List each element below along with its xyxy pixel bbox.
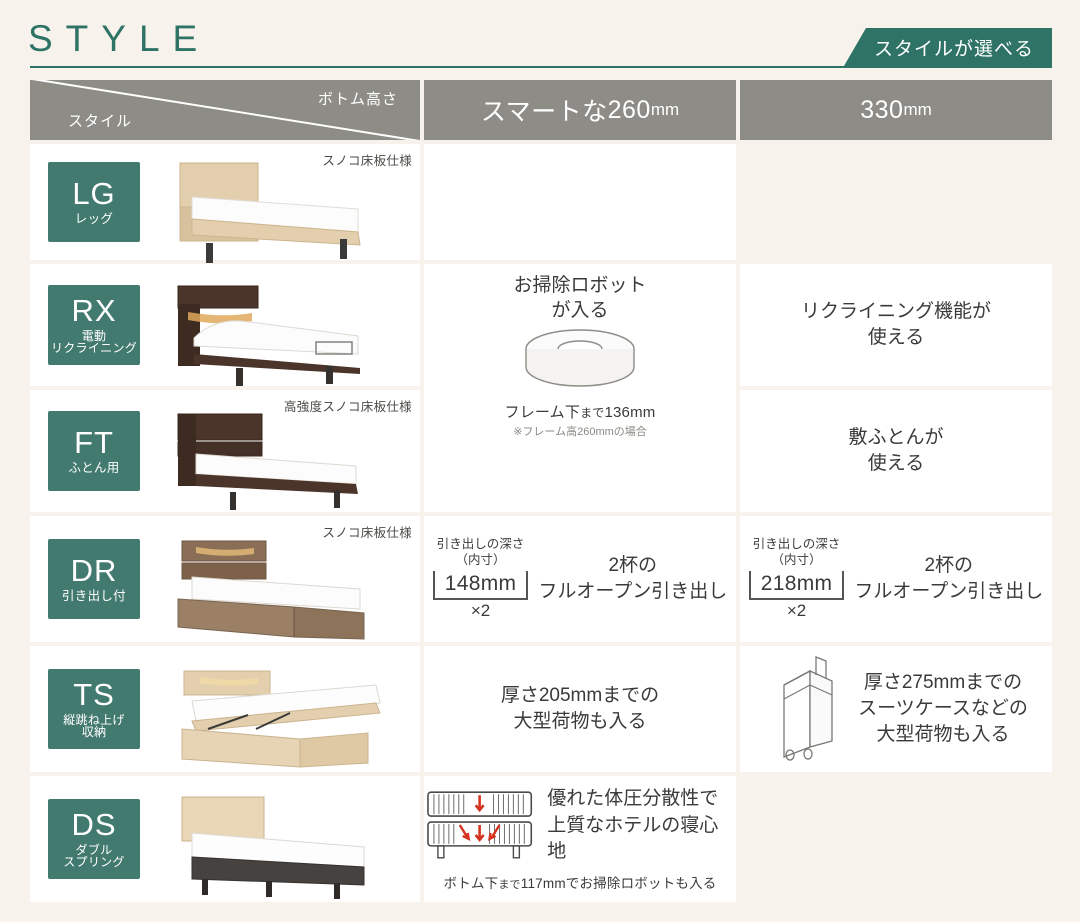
content-cell-robot-260: お掃除ロボット が入る フレーム下まで136mm ※フレーム高260mmの場合 [424,264,736,512]
drawer-depth-label-260: 引き出しの深さ （内寸） [437,537,525,568]
robot-note-prefix: フレーム下 [505,404,581,421]
content-cell-dr-330: 引き出しの深さ （内寸） 218mm ×2 2杯の フルオープン引き出し [740,516,1052,642]
bed-image-wrap-lg: スノコ床板仕様 [140,144,420,260]
drawer-depth-260: 引き出しの深さ （内寸） 148mm ×2 [433,537,529,621]
ft-330-text: 敷ふとんが 使える [740,390,1052,512]
page-title: STYLE [28,20,210,57]
comparison-table: スタイル ボトム高さ スマートな260mm 330mm LG レッグ スノコ床板 [30,80,1052,906]
style-code-ts: TS [73,679,115,712]
style-sub-ft: ふとん用 [68,462,119,475]
style-sub-ts: 縦跳ね上げ 収納 [63,714,125,739]
style-sub-dr: 引き出し付 [62,590,126,603]
drawer-depth-value-330: 218mm [749,571,845,600]
style-code-ft: FT [74,427,114,460]
style-sub-rx: 電動 リクライニング [51,330,137,355]
style-cell-lg: LG レッグ スノコ床板仕様 [30,144,420,260]
bed-image-wrap-ft: 高強度スノコ床板仕様 [140,390,420,512]
double-spring-icon [424,788,535,864]
style-cell-dr: DR 引き出し付 スノコ床板仕様 [30,516,420,642]
style-cell-ds: DS ダブル スプリング [30,776,420,902]
table-corner-cell: スタイル ボトム高さ [30,80,420,140]
double-spring-bed-icon [148,786,398,912]
content-cell-ts-330: 厚さ275mmまでの スーツケースなどの 大型荷物も入る [740,646,1052,772]
ds-note-made: まで [498,879,520,891]
column-header-330: 330mm [740,80,1052,140]
content-cell-ts-260: 厚さ205mmまでの 大型荷物も入る [424,646,736,772]
content-cell-lg-260 [424,144,736,260]
style-sub-ds: ダブル スプリング [63,844,125,869]
corner-bottom-height-label: ボトム高さ [318,88,398,109]
drawer-depth-label-330: 引き出しの深さ （内寸） [753,537,841,568]
leg-bed-icon [148,154,398,270]
style-tag-lg: LG レッグ [48,162,140,242]
title-divider [30,66,1052,68]
style-tag-dr: DR 引き出し付 [48,539,140,619]
style-cell-ts: TS 縦跳ね上げ 収納 [30,646,420,772]
style-code-rx: RX [71,295,116,328]
style-code-lg: LG [72,178,115,211]
robot-fine-print: ※フレーム高260mmの場合 [513,423,647,439]
robot-note-value: 136mm [604,404,655,421]
content-cell-ds-330 [740,776,1052,902]
bed-image-wrap-rx [140,264,420,386]
ds-note-suffix: 117mmでお掃除ロボットも入る [521,876,717,891]
content-cell-rx-330: リクライニング機能が 使える [740,264,1052,386]
style-tag-ft: FT ふとん用 [48,411,140,491]
robot-title: お掃除ロボット が入る [513,274,646,323]
column-header-260: スマートな260mm [424,80,736,140]
content-cell-ft-330: 敷ふとんが 使える [740,390,1052,512]
table-row-rx: RX 電動 リクライニング [30,264,1052,386]
ds-260-text: 優れた体圧分散性で 上質なホテルの寝心地 [547,786,736,866]
style-code-dr: DR [71,555,118,588]
table-header-row: スタイル ボトム高さ スマートな260mm 330mm [30,80,1052,140]
table-row-ds: DS ダブル スプリング [30,776,1052,902]
table-row-lg: LG レッグ スノコ床板仕様 [30,144,1052,260]
ts-260-text: 厚さ205mmまでの 大型荷物も入る [424,646,736,772]
drawer-multiplier-330: ×2 [787,601,806,621]
style-code-ds: DS [71,809,116,842]
style-tag-ds: DS ダブル スプリング [48,799,140,879]
drawer-bed-icon [148,526,398,652]
style-tag-rx: RX 電動 リクライニング [48,285,140,365]
column-header-330-value: 330 [860,96,903,125]
bed-image-wrap-ts [140,646,420,772]
corner-style-label: スタイル [68,110,132,131]
bed-image-wrap-dr: スノコ床板仕様 [140,516,420,642]
content-cell-dr-260: 引き出しの深さ （内寸） 148mm ×2 2杯の フルオープン引き出し [424,516,736,642]
rx-330-text: リクライニング機能が 使える [740,264,1052,386]
drawer-depth-value-260: 148mm [433,571,529,600]
table-row-ts: TS 縦跳ね上げ 収納 [30,646,1052,772]
robot-vacuum-icon [510,323,650,397]
style-tag-ts: TS 縦跳ね上げ 収納 [48,669,140,749]
robot-note: フレーム下まで136mm [505,401,656,422]
table-row-dr: DR 引き出し付 スノコ床板仕様 [30,516,1052,642]
reclining-bed-icon [148,274,398,396]
style-cell-ft: FT ふとん用 高強度スノコ床板仕様 [30,390,420,512]
column-header-330-unit: mm [903,100,931,120]
style-comparison-page: STYLE スタイルが選べる スタイル ボトム高さ スマートな260mm 330… [0,0,1080,922]
suitcase-icon [764,655,846,763]
lift-bed-icon [148,656,398,782]
drawer-description-330: 2杯の フルオープン引き出し [854,553,1043,604]
column-header-260-unit: mm [651,100,679,120]
bed-image-wrap-ds [140,776,420,902]
ds-note-prefix: ボトム下 [444,876,499,891]
column-header-260-prefix: スマートな [481,92,608,128]
style-sub-lg: レッグ [75,213,113,226]
content-cell-ds-260: 優れた体圧分散性で 上質なホテルの寝心地 ボトム下まで117mmでお掃除ロボット… [424,776,736,902]
content-cell-lg-330 [740,144,1052,260]
robot-note-made: まで [580,406,604,420]
ts-330-text: 厚さ275mmまでの スーツケースなどの 大型荷物も入る [858,670,1028,749]
style-choice-badge: スタイルが選べる [844,28,1052,66]
drawer-multiplier-260: ×2 [471,601,490,621]
ds-260-note: ボトム下まで117mmでお掃除ロボットも入る [444,872,717,892]
drawer-depth-330: 引き出しの深さ （内寸） 218mm ×2 [749,537,845,621]
style-cell-rx: RX 電動 リクライニング [30,264,420,386]
futon-bed-icon [148,400,398,522]
column-header-260-value: 260 [608,96,651,125]
drawer-description-260: 2杯の フルオープン引き出し [538,553,727,604]
page-header: STYLE スタイルが選べる [0,0,1080,78]
